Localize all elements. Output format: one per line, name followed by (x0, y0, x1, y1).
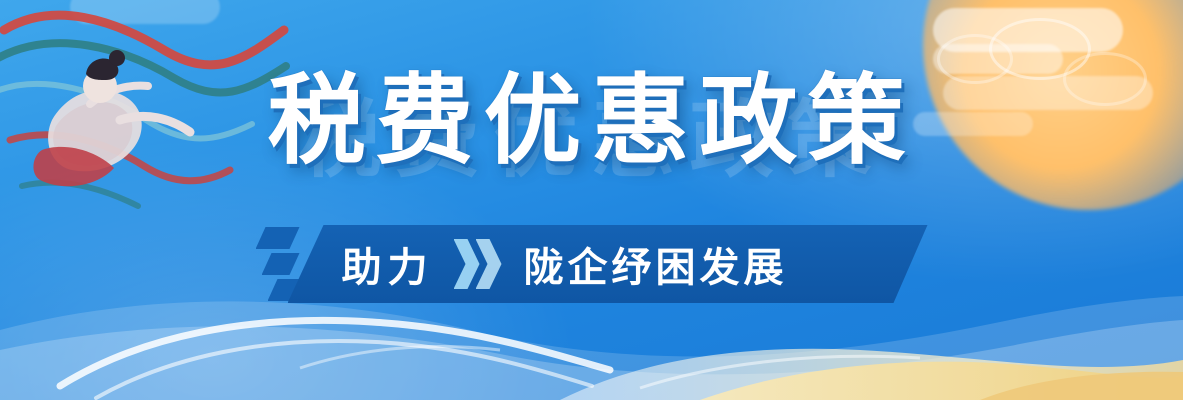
page-title: 税费优惠政策 (0, 72, 1183, 170)
subtitle-ribbon: 助力 陇企纾困发展 (0, 225, 1183, 311)
ribbon-tick-icon (256, 227, 300, 249)
subtitle-right-text: 陇企纾困发展 (524, 225, 788, 303)
subtitle-left-text: 助力 (342, 225, 434, 303)
ribbon-tick-icon (262, 253, 300, 275)
double-chevron-right-icon (454, 239, 526, 289)
promo-banner: 税费优惠政策 税费优惠政策 助力 陇企纾困发展 (0, 0, 1183, 400)
